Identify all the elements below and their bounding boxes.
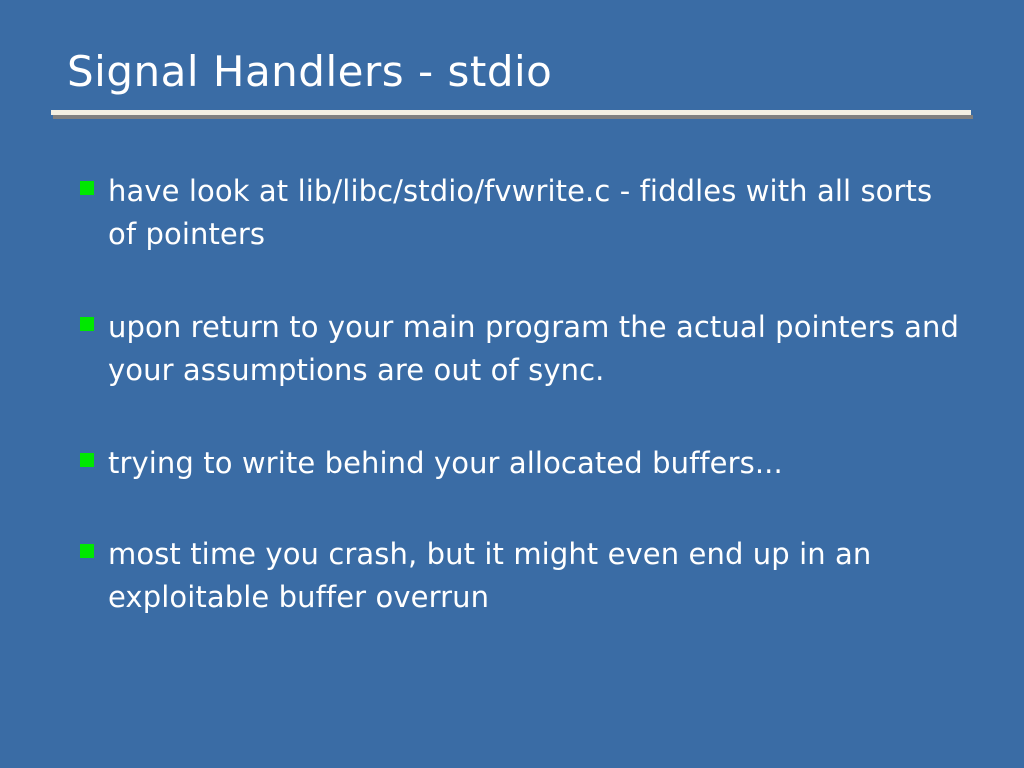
title-placeholder: Signal Handlers - stdio xyxy=(51,44,971,120)
list-item-label: most time you crash, but it might even e… xyxy=(108,533,960,619)
list-item-label: upon return to your main program the act… xyxy=(108,306,960,392)
list-item: have look at lib/libc/stdio/fvwrite.c - … xyxy=(80,170,960,256)
square-bullet-icon xyxy=(80,544,94,558)
square-bullet-icon xyxy=(80,181,94,195)
list-item-label: trying to write behind your allocated bu… xyxy=(108,442,960,485)
list-item: most time you crash, but it might even e… xyxy=(80,533,960,619)
square-bullet-icon xyxy=(80,317,94,331)
list-item-label: have look at lib/libc/stdio/fvwrite.c - … xyxy=(108,170,960,256)
body-placeholder: have look at lib/libc/stdio/fvwrite.c - … xyxy=(80,170,960,619)
list-item: upon return to your main program the act… xyxy=(80,306,960,392)
page-title: Signal Handlers - stdio xyxy=(51,44,971,100)
slide-canvas: Signal Handlers - stdio have look at lib… xyxy=(0,0,1024,768)
title-divider-shadow xyxy=(53,115,973,119)
square-bullet-icon xyxy=(80,453,94,467)
list-item: trying to write behind your allocated bu… xyxy=(80,442,960,485)
